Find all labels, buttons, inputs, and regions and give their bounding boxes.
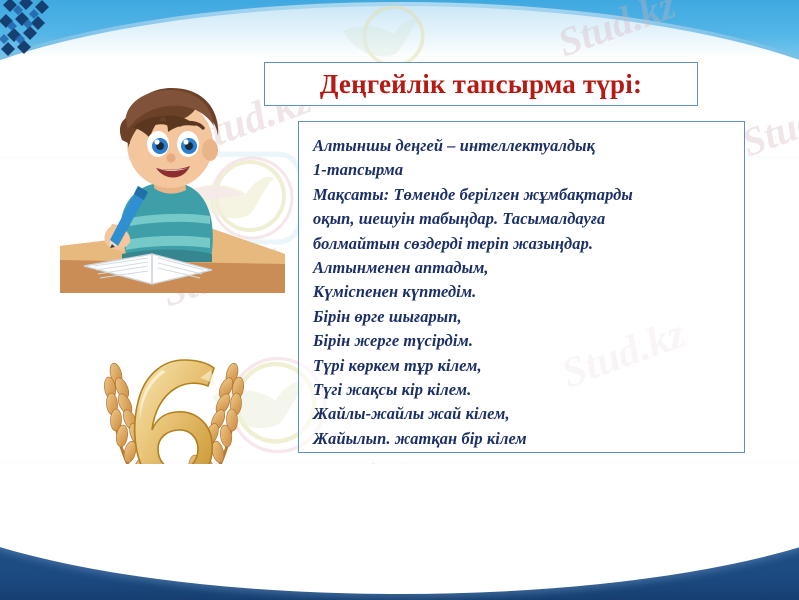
content-line: Жайлы-жайлы жай кілем, [313,402,734,426]
content-line: болмайтын сөздерді теріп жазыңдар. [313,232,734,256]
presentation-slide: Stud.kz Stud.kz Stud.kz Stud.kz Stud.kz … [0,0,799,600]
content-line: Алтынменен аптадым, [313,256,734,280]
content-line: Мақсаты: Төменде берілген жұмбақтарды [313,183,734,207]
content-line: 1-тапсырма [313,158,734,182]
content-line: Алтыншы деңгей – интеллектуалдық [313,134,734,158]
content-line: Күміспенен күптедім. [313,280,734,304]
boy-writing-illustration [60,78,285,293]
page-title: Деңгейлік тапсырма түрі: [320,69,642,100]
content-line: Түгі жақсы кір кілем. [313,378,734,402]
content-line: Бірін өрге шығарып, [313,305,734,329]
task-content-box: Алтыншы деңгей – интеллектуалдық 1-тапсы… [298,121,745,453]
slide-title-box: Деңгейлік тапсырма түрі: [264,62,698,106]
diamond-pattern-icon [0,0,64,62]
content-line: Жайылып. жатқан бір кілем [313,427,734,451]
content-line: оқып, шешуін табыңдар. Тасымалдауға [313,207,734,231]
content-line: Түрі көркем тұр кілем, [313,354,734,378]
content-line: Бірін жерге түсірдім. [313,329,734,353]
